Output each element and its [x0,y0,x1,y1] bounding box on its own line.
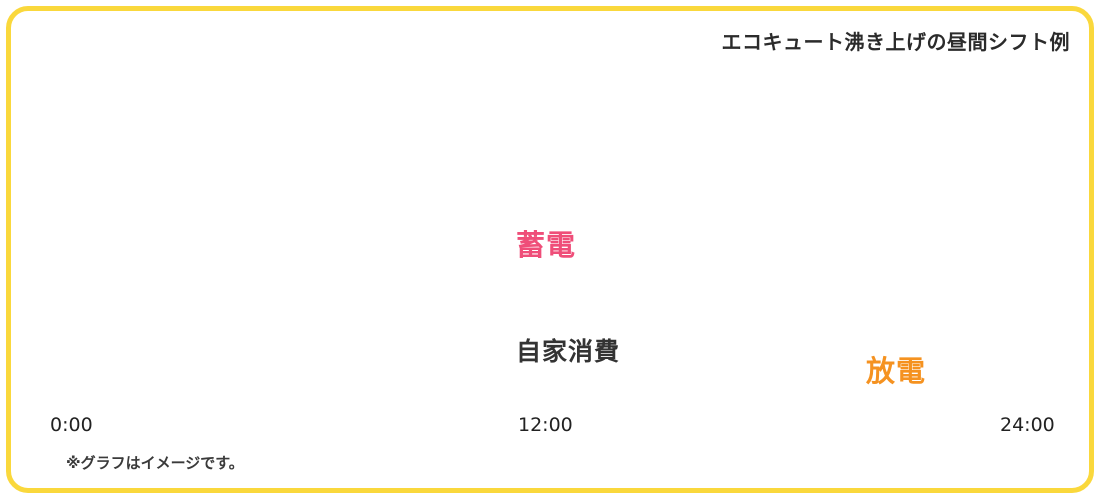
footnote: ※グラフはイメージです。 [66,452,244,473]
ecocute-illustration [133,72,273,223]
label-self-consumption: 自家消費 [516,332,620,368]
tank-indicator-upper [238,93,245,105]
axis-label-24: 24:00 [1000,414,1055,436]
label-charge: 蓄電 [516,222,576,264]
heat-pump-fan [142,159,186,203]
axis-label-12: 12:00 [518,414,573,436]
tank-indicator-lower [238,146,245,158]
infographic-root: エコキュート沸き上げの昼間シフト例 蓄電 自家消費 放電 0:00 12:00 … [0,0,1100,499]
axis-label-0: 0:00 [50,414,93,436]
page-title: エコキュート沸き上げの昼間シフト例 [722,26,1071,55]
shift-down-arrow [172,292,232,382]
label-discharge: 放電 [866,348,926,390]
